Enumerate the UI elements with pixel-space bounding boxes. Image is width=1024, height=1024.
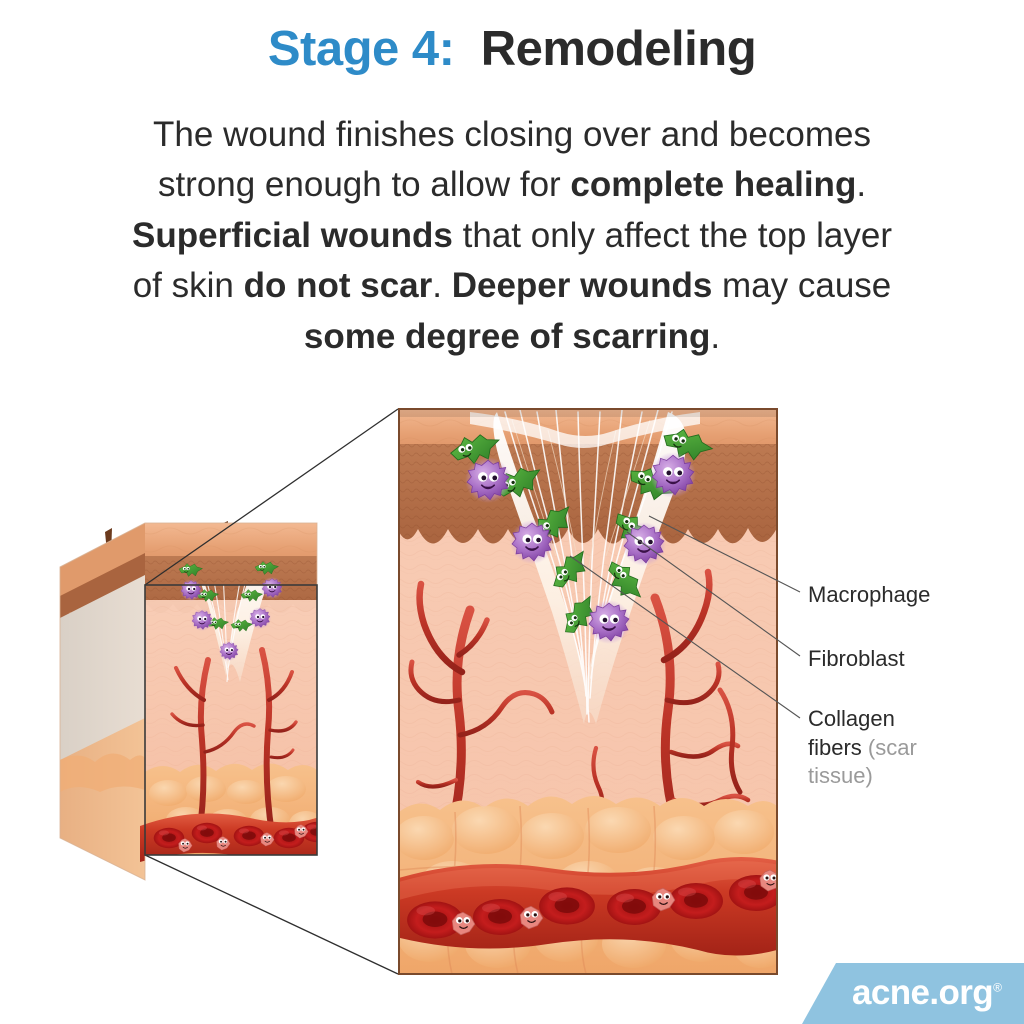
label-macrophage-text: Macrophage bbox=[808, 582, 930, 607]
block-left-face bbox=[60, 523, 145, 880]
label-collagen-line1: Collagen bbox=[808, 706, 895, 731]
skin-healing-illustration bbox=[0, 0, 1024, 1024]
logo-text: acne.org® bbox=[852, 973, 1001, 1013]
label-collagen-fibers: Collagen fibers (scar tissue) bbox=[808, 705, 988, 791]
label-collagen-note1: (scar bbox=[862, 735, 917, 760]
label-collagen-note2: tissue) bbox=[808, 763, 873, 788]
label-macrophage: Macrophage bbox=[808, 581, 930, 610]
label-fibroblast: Fibroblast bbox=[808, 645, 905, 674]
label-collagen-line2: fibers bbox=[808, 735, 862, 760]
acne-org-logo[interactable]: acne.org® bbox=[802, 963, 1024, 1024]
logo-registered-mark: ® bbox=[993, 980, 1001, 994]
skin-cross-section-block bbox=[60, 521, 332, 880]
block-front-face bbox=[140, 523, 332, 864]
magnified-skin-panel bbox=[392, 409, 788, 974]
logo-wordmark: acne.org bbox=[852, 973, 993, 1012]
epidermis-texture bbox=[399, 444, 777, 544]
label-fibroblast-text: Fibroblast bbox=[808, 646, 905, 671]
